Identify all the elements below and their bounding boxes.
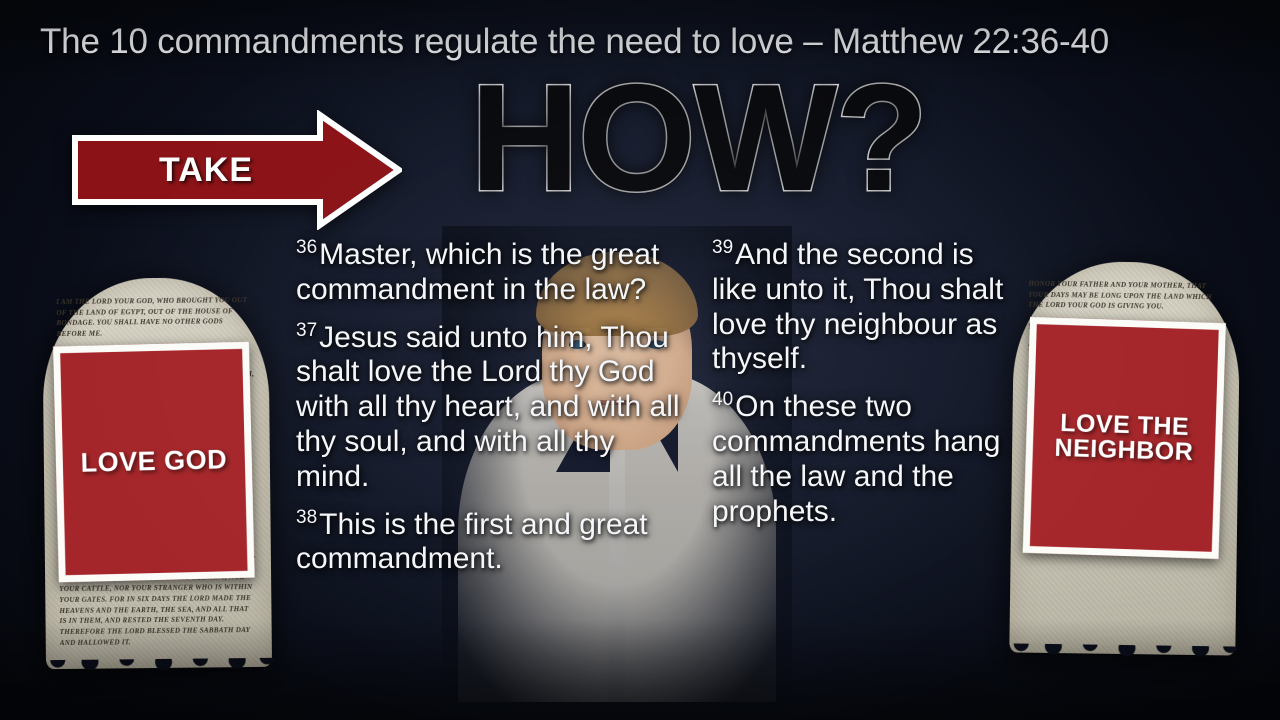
slide-title: The 10 commandments regulate the need to… (40, 22, 1109, 62)
verse-40: 40On these two commandments hang all the… (712, 390, 1004, 529)
stone-tablet-left: I AM THE LORD YOUR GOD, WHO BROUGHT YOU … (42, 277, 272, 669)
verse-38: 38This is the first and great commandmen… (296, 508, 696, 578)
love-the-neighbor-label: LOVE THE NEIGHBOR (1030, 324, 1219, 552)
verse-text: Jesus said unto him, Thou shalt love the… (296, 321, 680, 493)
verse-text: And the second is like unto it, Thou sha… (712, 238, 1003, 375)
verse-number: 40 (712, 389, 733, 410)
verse-39: 39And the second is like unto it, Thou s… (712, 238, 1004, 377)
scripture-column-right: 39And the second is like unto it, Thou s… (712, 238, 1004, 542)
verse-36: 36Master, which is the great commandment… (296, 238, 696, 308)
verse-text: On these two commandments hang all the l… (712, 390, 1001, 527)
verse-number: 36 (296, 237, 317, 258)
arrow-right-icon (72, 110, 402, 230)
love-god-card: LOVE GOD (53, 342, 255, 583)
scripture-column-left: 36Master, which is the great commandment… (296, 238, 696, 590)
take-arrow: TAKE (72, 110, 402, 230)
verse-text: This is the first and great commandment. (296, 508, 648, 576)
verse-number: 39 (712, 237, 733, 258)
slide-canvas: The 10 commandments regulate the need to… (0, 0, 1280, 720)
love-god-label: LOVE GOD (60, 349, 247, 575)
verse-number: 38 (296, 507, 317, 528)
verse-number: 37 (296, 320, 317, 341)
love-the-neighbor-card: LOVE THE NEIGHBOR (1023, 317, 1226, 559)
verse-text: Master, which is the great commandment i… (296, 238, 659, 306)
stone-tablet-right: HONOR YOUR FATHER AND YOUR MOTHER, THAT … (1009, 260, 1240, 655)
verse-37: 37Jesus said unto him, Thou shalt love t… (296, 321, 696, 495)
headline-how: HOW? (470, 62, 926, 214)
